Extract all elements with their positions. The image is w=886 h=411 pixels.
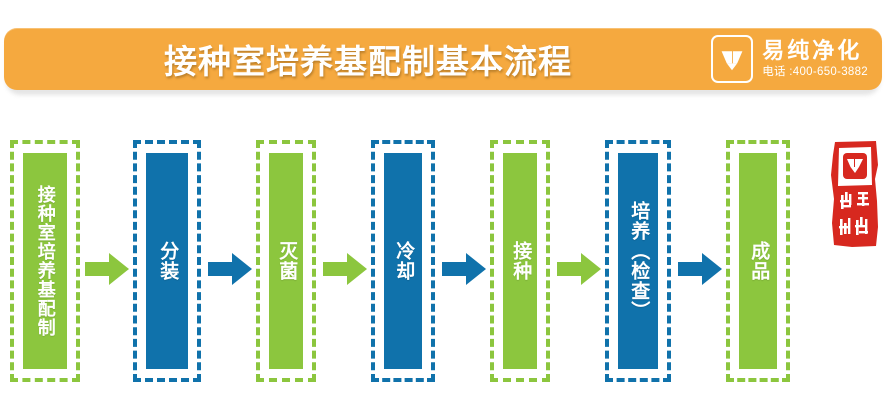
- flow-node-7-label: 成品: [748, 241, 769, 281]
- flow-node-6-label: 培养（检查）: [628, 201, 649, 321]
- flow-node-1-fill: 接种室培养基配制: [23, 153, 67, 369]
- brand-phone: 电话 :400-650-3882: [762, 67, 868, 79]
- arrow-right-icon-4: [442, 252, 486, 286]
- flow-node-5: 接种: [490, 140, 550, 382]
- flow-node-7: 成品: [726, 140, 790, 382]
- arrow-right-icon-6: [678, 252, 722, 286]
- flow-node-1-label: 接种室培养基配制: [35, 185, 54, 337]
- flow-node-2: 分装: [133, 140, 201, 382]
- flow-node-4-fill: 冷却: [384, 153, 422, 369]
- flow-node-7-fill: 成品: [739, 153, 777, 369]
- brand-name: 易纯净化: [762, 40, 868, 62]
- flow-node-3-fill: 灭菌: [269, 153, 303, 369]
- red-seal-stamp-icon: [830, 139, 880, 249]
- arrow-right-icon-3: [323, 252, 367, 286]
- flow-node-4: 冷却: [371, 140, 435, 382]
- process-flow: 接种室培养基配制 分装 灭菌 冷却: [0, 140, 886, 390]
- flow-node-3-label: 灭菌: [276, 241, 297, 281]
- flow-node-6: 培养（检查）: [605, 140, 671, 382]
- flow-node-2-label: 分装: [157, 241, 178, 281]
- brand-lockup: 易纯净化 电话 :400-650-3882: [711, 35, 868, 83]
- flow-node-6-fill: 培养（检查）: [618, 153, 658, 369]
- flow-node-5-label: 接种: [510, 241, 531, 281]
- page-root: 接种室培养基配制基本流程 易纯净化 电话 :400-650-3882 接种室培养…: [0, 0, 886, 411]
- brand-text: 易纯净化 电话 :400-650-3882: [762, 40, 868, 79]
- arrow-right-icon-1: [85, 252, 129, 286]
- flow-node-3: 灭菌: [256, 140, 316, 382]
- flow-node-1: 接种室培养基配制: [10, 140, 80, 382]
- header-banner: 接种室培养基配制基本流程 易纯净化 电话 :400-650-3882: [4, 28, 882, 90]
- v-mark-icon: [711, 35, 753, 83]
- arrow-right-icon-5: [557, 252, 601, 286]
- flow-node-2-fill: 分装: [146, 153, 188, 369]
- flow-node-5-fill: 接种: [503, 153, 537, 369]
- arrow-right-icon-2: [208, 252, 252, 286]
- flow-node-4-label: 冷却: [393, 241, 414, 281]
